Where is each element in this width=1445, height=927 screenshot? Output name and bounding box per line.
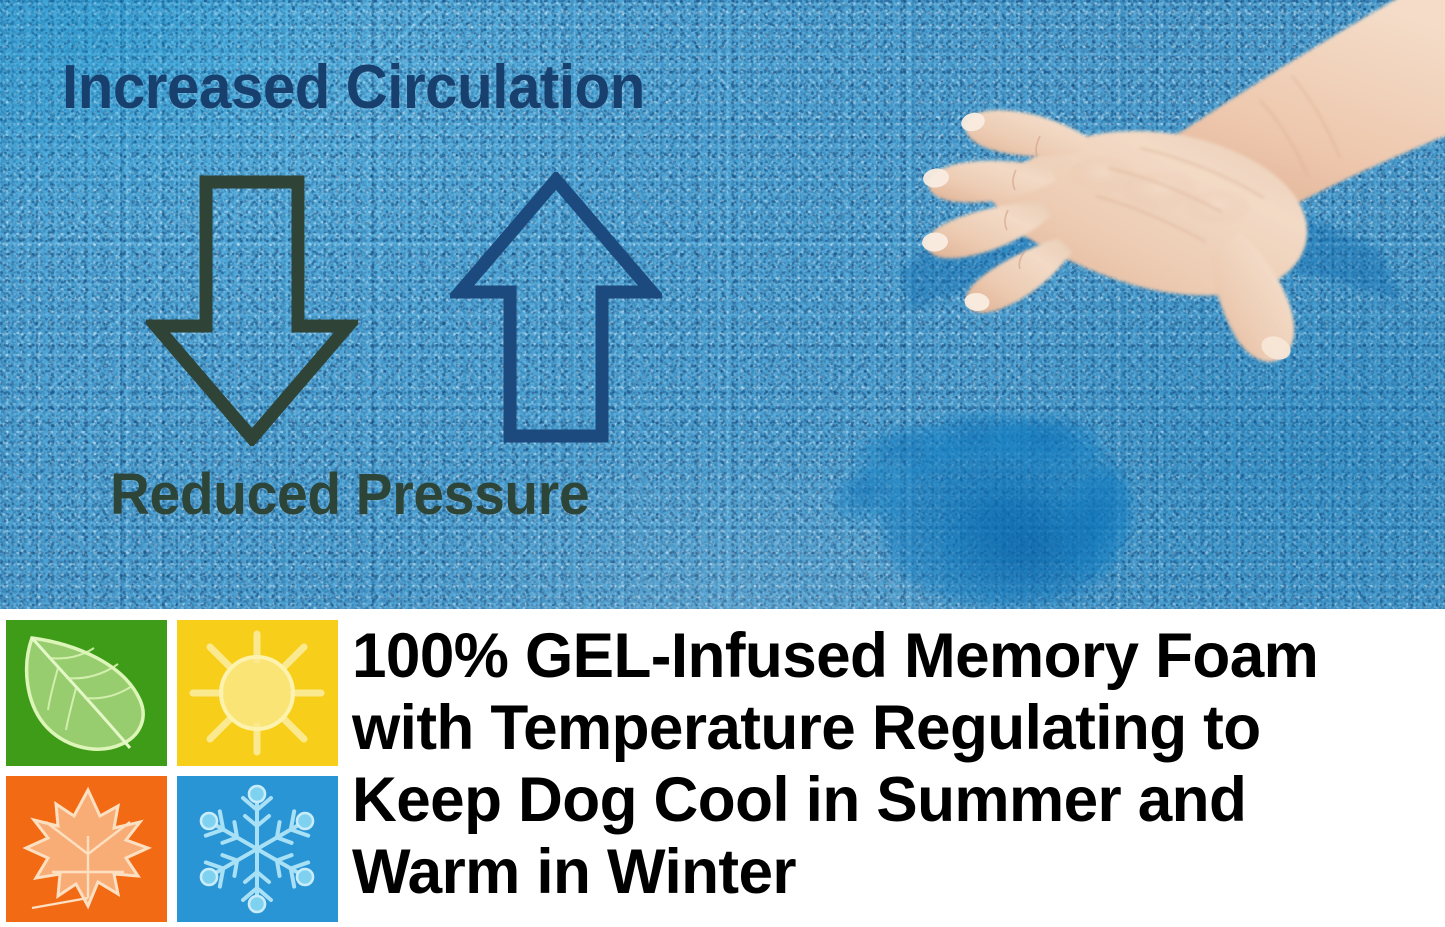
product-infographic: Increased Circulation Reduced Pressure (0, 0, 1445, 927)
season-tile-spring (6, 620, 167, 766)
headline-line-3: Keep Dog Cool in Summer and (352, 764, 1429, 836)
caption-reduced-pressure: Reduced Pressure (110, 466, 589, 524)
season-icon-grid (6, 620, 338, 920)
season-tile-winter (177, 776, 338, 922)
human-hand-photo (840, 0, 1445, 390)
impression-deep-shadow (940, 496, 1115, 609)
season-tile-summer (177, 620, 338, 766)
caption-increased-circulation: Increased Circulation (62, 57, 645, 119)
headline-line-1: 100% GEL-Infused Memory Foam (352, 620, 1429, 692)
season-tile-autumn (6, 776, 167, 922)
headline-line-4: Warm in Winter (352, 836, 1429, 908)
up-arrow-icon (450, 172, 662, 444)
memory-foam-photo: Increased Circulation Reduced Pressure (0, 0, 1445, 609)
down-arrow-icon (146, 174, 358, 446)
headline-line-2: with Temperature Regulating to (352, 692, 1429, 764)
feature-band: 100% GEL-Infused Memory Foam with Temper… (0, 609, 1445, 927)
headline-text: 100% GEL-Infused Memory Foam with Temper… (352, 620, 1429, 908)
